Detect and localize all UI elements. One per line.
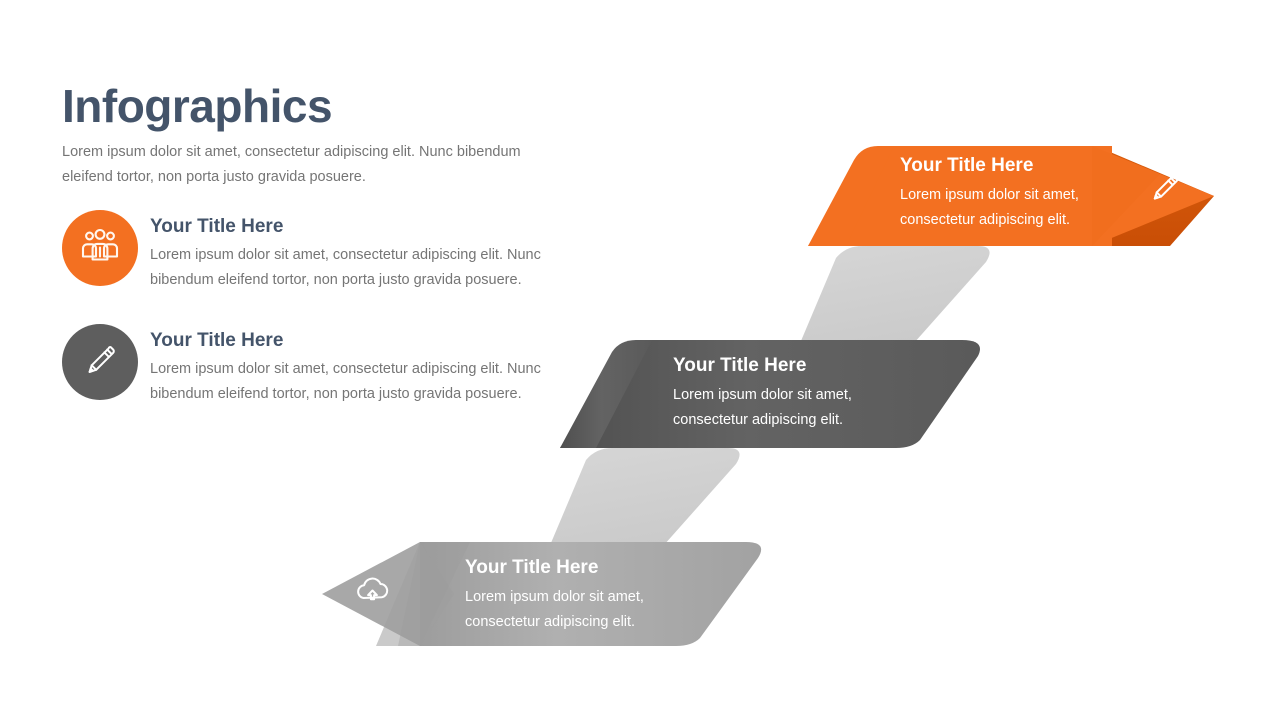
infographic-slide: Infographics Lorem ipsum dolor sit amet,… <box>0 0 1280 720</box>
feature-icon-badge <box>62 210 138 286</box>
feature-list: Your Title Here Lorem ipsum dolor sit am… <box>62 210 582 428</box>
feature-text: Lorem ipsum dolor sit amet, consectetur … <box>150 357 562 407</box>
feature-item-people[interactable]: Your Title Here Lorem ipsum dolor sit am… <box>62 210 582 296</box>
connector-top <box>794 246 989 364</box>
ribbon-title: Your Title Here <box>900 155 1130 178</box>
connector-bottom <box>544 448 739 566</box>
ribbon-light-gray-label: Your Title Here Lorem ipsum dolor sit am… <box>465 557 695 635</box>
ribbon-text: Lorem ipsum dolor sit amet, consectetur … <box>673 383 903 433</box>
cloud-upload-icon <box>358 579 387 600</box>
ribbon-title: Your Title Here <box>465 557 695 580</box>
page-subtitle: Lorem ipsum dolor sit amet, consectetur … <box>62 140 554 190</box>
people-group-icon <box>80 228 120 269</box>
ribbon-text: Lorem ipsum dolor sit amet, consectetur … <box>900 183 1130 233</box>
pencil-icon <box>81 341 119 384</box>
feature-icon-badge <box>62 324 138 400</box>
ribbon-orange-label: Your Title Here Lorem ipsum dolor sit am… <box>900 155 1130 233</box>
ribbon-title: Your Title Here <box>673 355 903 378</box>
feature-title: Your Title Here <box>150 216 582 239</box>
feature-body: Your Title Here Lorem ipsum dolor sit am… <box>150 324 582 407</box>
ribbon-text: Lorem ipsum dolor sit amet, consectetur … <box>465 585 695 635</box>
page-title: Infographics <box>62 82 582 130</box>
pencil-icon <box>1155 175 1178 198</box>
feature-item-pencil[interactable]: Your Title Here Lorem ipsum dolor sit am… <box>62 324 582 410</box>
feature-text: Lorem ipsum dolor sit amet, consectetur … <box>150 243 562 293</box>
feature-title: Your Title Here <box>150 330 582 353</box>
feature-body: Your Title Here Lorem ipsum dolor sit am… <box>150 210 582 293</box>
ribbon-dark-gray-label: Your Title Here Lorem ipsum dolor sit am… <box>673 355 903 433</box>
left-text-column: Infographics Lorem ipsum dolor sit amet,… <box>62 82 582 190</box>
